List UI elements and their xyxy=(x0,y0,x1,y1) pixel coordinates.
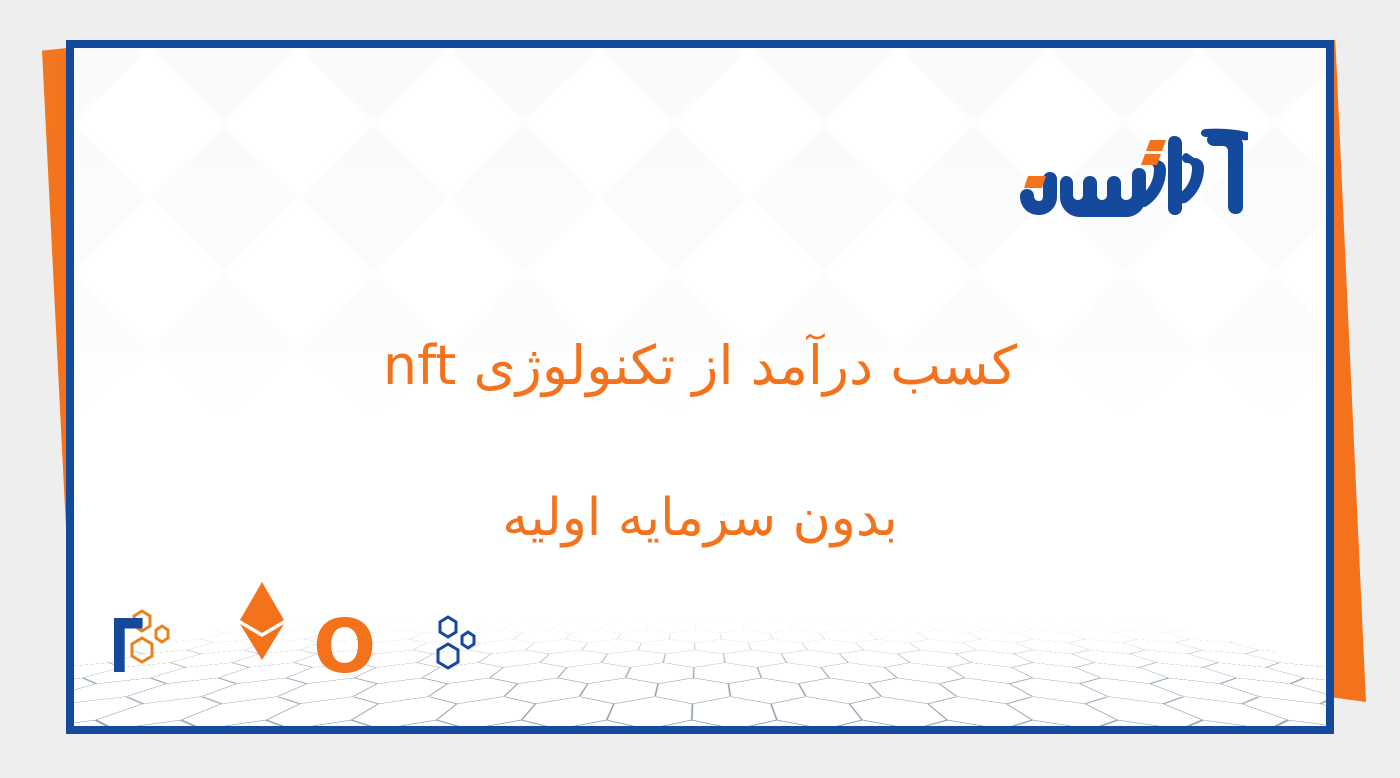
crypto-wordmark-last-letter: O xyxy=(313,604,376,686)
crypto-logo: CRYPT O xyxy=(114,578,484,686)
promo-banner: کسب درآمد از تکنولوژی nft بدون سرمایه او… xyxy=(0,0,1400,778)
brand-logo xyxy=(998,124,1248,218)
headline: کسب درآمد از تکنولوژی nft بدون سرمایه او… xyxy=(74,334,1326,549)
headline-line-1: کسب درآمد از تکنولوژی nft xyxy=(74,334,1326,398)
ethereum-diamond-icon xyxy=(240,582,284,660)
crypto-wordmark-text: CRYPT xyxy=(114,604,144,686)
banner-card: کسب درآمد از تکنولوژی nft بدون سرمایه او… xyxy=(66,40,1334,734)
headline-line-2: بدون سرمایه اولیه xyxy=(74,488,1326,549)
